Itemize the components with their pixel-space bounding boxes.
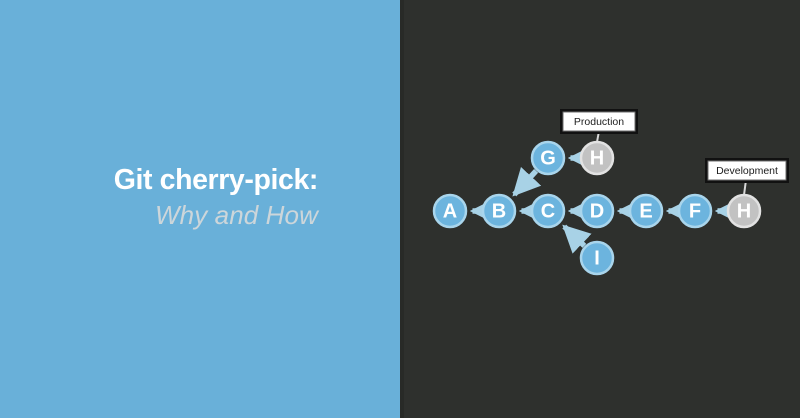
commit-node-g[interactable]: G bbox=[532, 142, 564, 174]
graph-edge-I-to-C bbox=[564, 227, 584, 246]
commit-node-label: C bbox=[541, 201, 555, 223]
commit-node-h_dev[interactable]: H bbox=[728, 195, 760, 227]
branch-tag-label: Development bbox=[716, 165, 778, 177]
commit-node-d[interactable]: D bbox=[581, 195, 613, 227]
commit-node-label: G bbox=[540, 148, 556, 170]
commit-node-e[interactable]: E bbox=[630, 195, 662, 227]
commit-node-label: H bbox=[590, 148, 604, 170]
commit-node-a[interactable]: A bbox=[434, 195, 466, 227]
git-commit-graph: ProductionDevelopment ABCDEFHGHI bbox=[0, 0, 800, 418]
commit-node-f[interactable]: F bbox=[679, 195, 711, 227]
commit-node-label: H bbox=[737, 201, 751, 223]
commit-node-label: B bbox=[492, 201, 506, 223]
commit-node-label: F bbox=[689, 201, 701, 223]
commit-node-label: A bbox=[443, 201, 457, 223]
commit-node-i[interactable]: I bbox=[581, 242, 613, 274]
commit-node-label: E bbox=[639, 201, 652, 223]
branch-tag-label: Production bbox=[574, 116, 624, 128]
commit-node-label: D bbox=[590, 201, 604, 223]
branch-tag-production[interactable]: Production bbox=[560, 109, 638, 142]
commit-node-b[interactable]: B bbox=[483, 195, 515, 227]
slide-canvas: Git cherry-pick: Why and How ProductionD… bbox=[0, 0, 800, 418]
commit-node-h_prod[interactable]: H bbox=[581, 142, 613, 174]
commit-node-label: I bbox=[594, 248, 600, 270]
commit-node-c[interactable]: C bbox=[532, 195, 564, 227]
graph-edge-G-to-B bbox=[514, 171, 536, 195]
branch-tag-development[interactable]: Development bbox=[705, 158, 789, 195]
